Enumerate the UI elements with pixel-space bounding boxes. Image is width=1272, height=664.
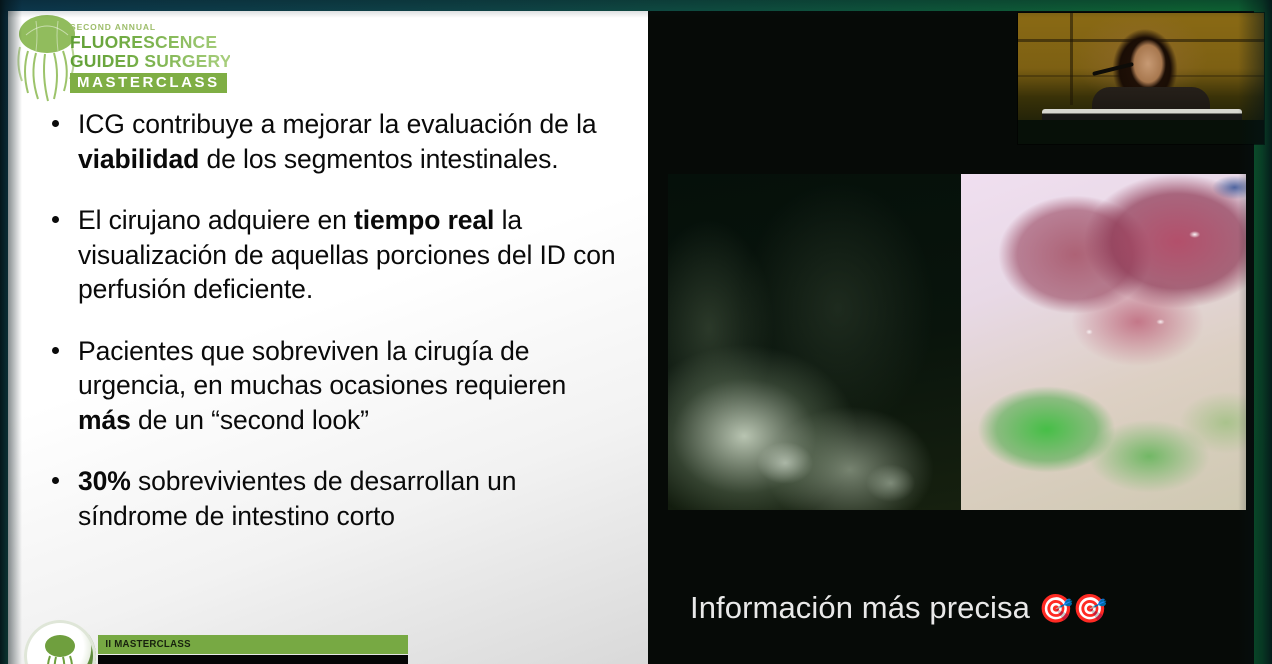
bullet-dot-icon	[52, 216, 59, 223]
bullet-text: de un “second look”	[131, 405, 369, 435]
video-caption-text: Información más precisa	[690, 590, 1030, 625]
bullet-text: sobrevivientes de desarrollan un síndrom…	[78, 466, 516, 531]
bullet-emphasis: 30%	[78, 466, 131, 496]
slide-footer: II MASTERCLASS	[8, 631, 648, 664]
footer-badge: II MASTERCLASS	[98, 635, 408, 654]
webinar-stage: SECOND ANNUAL FLUORESCENCE GUIDED SURGER…	[0, 0, 1272, 664]
surgical-image-nir	[668, 174, 961, 510]
bullet-dot-icon	[52, 477, 59, 484]
bullet-emphasis: tiempo real	[354, 205, 494, 235]
speaker-video-inset[interactable]	[1018, 13, 1264, 144]
bullet-text: El cirujano adquiere en	[78, 205, 354, 235]
logo-badge: MASTERCLASS	[70, 73, 227, 93]
target-emoji: 🎯🎯	[1039, 593, 1107, 624]
bullet-viabilidad: ICG contribuye a mejorar la evaluación d…	[42, 107, 622, 176]
bullet-emphasis: viabilidad	[78, 144, 199, 174]
bullet-emphasis: más	[78, 405, 131, 435]
logo-line-1: FLUORESCENCE	[70, 33, 230, 52]
bullet-intestino-corto: 30% sobrevivientes de desarrollan un sín…	[42, 464, 622, 533]
backdrop-beam	[1070, 13, 1073, 105]
video-caption: Información más precisa 🎯🎯	[690, 589, 1230, 628]
bullet-dot-icon	[52, 120, 59, 127]
bullet-text: ICG contribuye a mejorar la evaluación d…	[78, 109, 597, 139]
slide-bullet-list: ICG contribuye a mejorar la evaluación d…	[42, 107, 622, 560]
surgical-image-overlay	[961, 174, 1246, 510]
presentation-slide: SECOND ANNUAL FLUORESCENCE GUIDED SURGER…	[8, 11, 648, 664]
logo-line-2: GUIDED SURGERY	[70, 52, 230, 71]
bullet-dot-icon	[52, 347, 59, 354]
bullet-tiempo-real: El cirujano adquiere en tiempo real la v…	[42, 203, 622, 307]
footer-black-bar	[98, 655, 408, 664]
bullet-text: de los segmentos intestinales.	[199, 144, 558, 174]
jellyfish-circle-icon	[24, 620, 96, 664]
masterclass-logo: SECOND ANNUAL FLUORESCENCE GUIDED SURGER…	[10, 11, 230, 107]
bullet-text: Pacientes que sobreviven la cirugía de u…	[78, 336, 566, 401]
stage-floor	[1018, 120, 1264, 144]
surgical-images	[668, 174, 1246, 510]
footer-badge-label: II MASTERCLASS	[98, 635, 383, 650]
bullet-second-look: Pacientes que sobreviven la cirugía de u…	[42, 334, 622, 438]
